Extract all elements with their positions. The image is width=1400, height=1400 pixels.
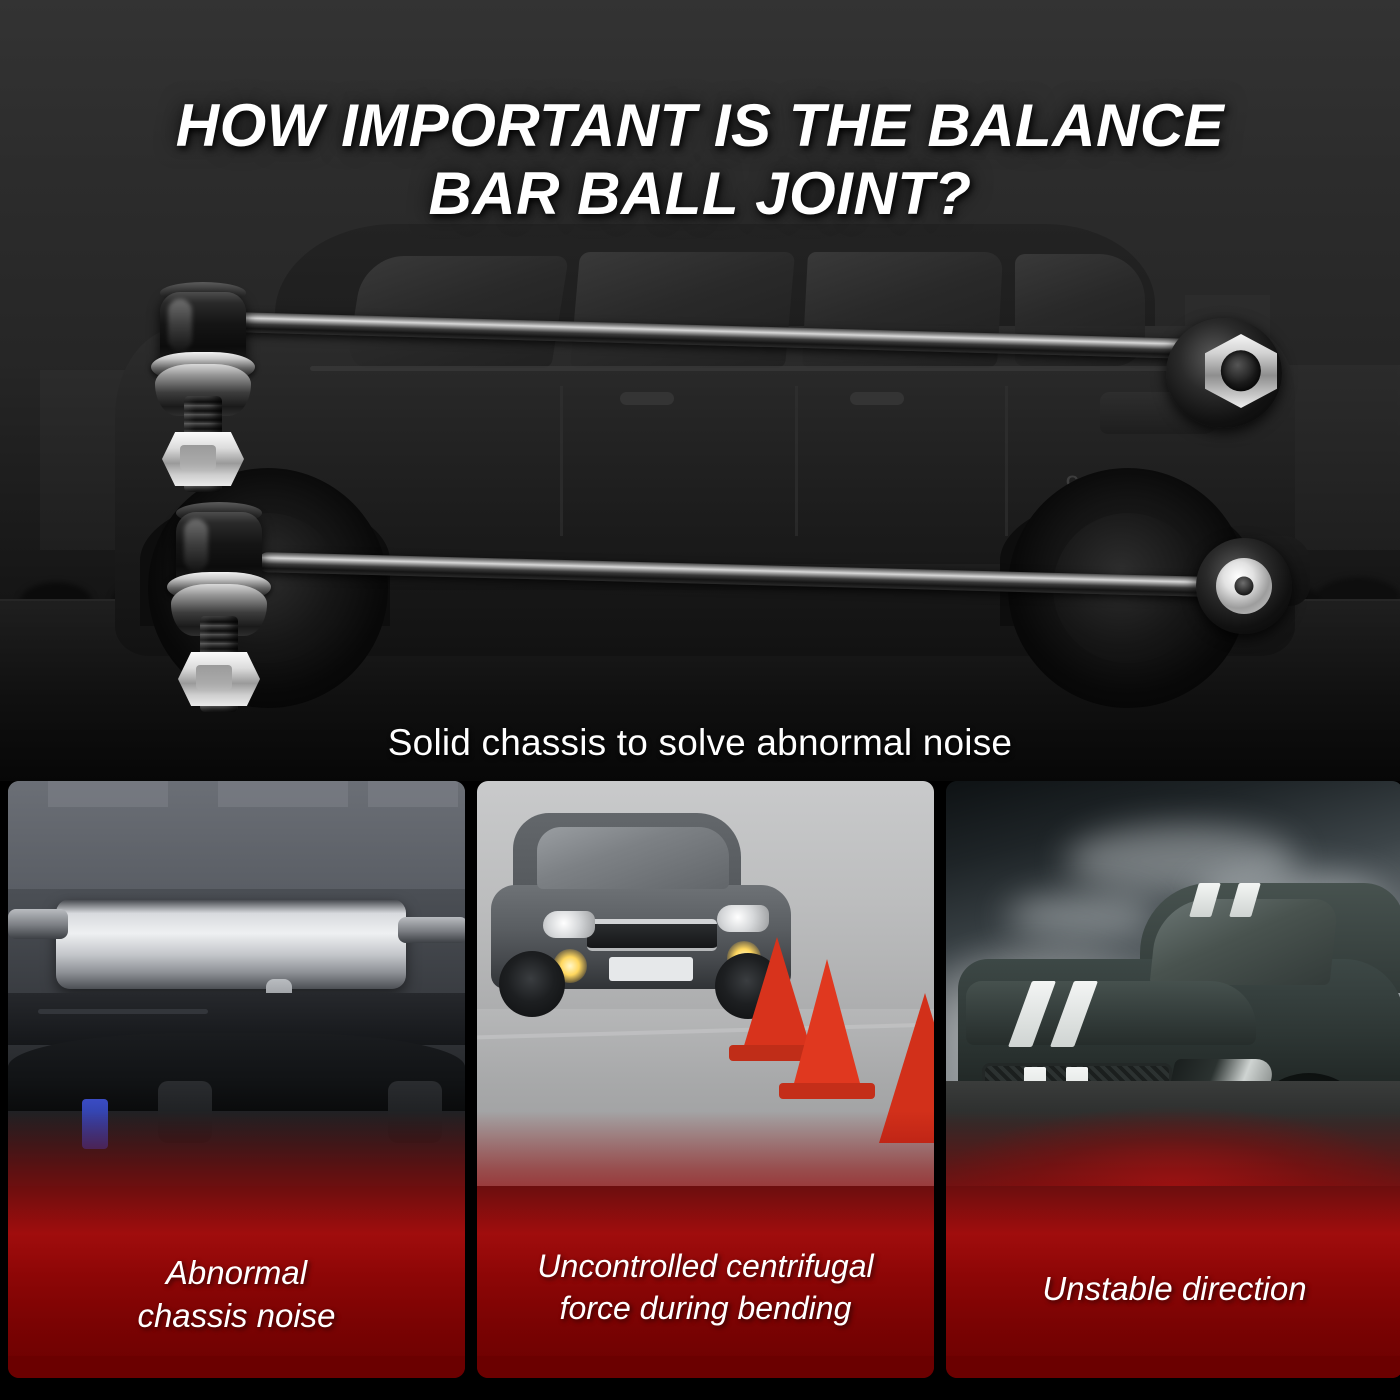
panel-unstable-direction[interactable] — [946, 781, 1400, 1378]
panel-abnormal-chassis-noise[interactable] — [8, 781, 465, 1378]
benefit-panel-row — [0, 781, 1400, 1400]
headline-line-1: HOW IMPORTANT IS THE BALANCE — [0, 92, 1400, 160]
product-infographic-poster: COOP — [0, 0, 1400, 1400]
background-suv-silhouette: COOP — [60, 196, 1350, 716]
hero-section: COOP — [0, 0, 1400, 781]
page-title: HOW IMPORTANT IS THE BALANCE BAR BALL JO… — [0, 92, 1400, 229]
subtitle-text: Solid chassis to solve abnormal noise — [0, 722, 1400, 764]
panel-uncontrolled-centrifugal-force[interactable] — [477, 781, 934, 1378]
headline-line-2: BAR BALL JOINT? — [0, 160, 1400, 228]
